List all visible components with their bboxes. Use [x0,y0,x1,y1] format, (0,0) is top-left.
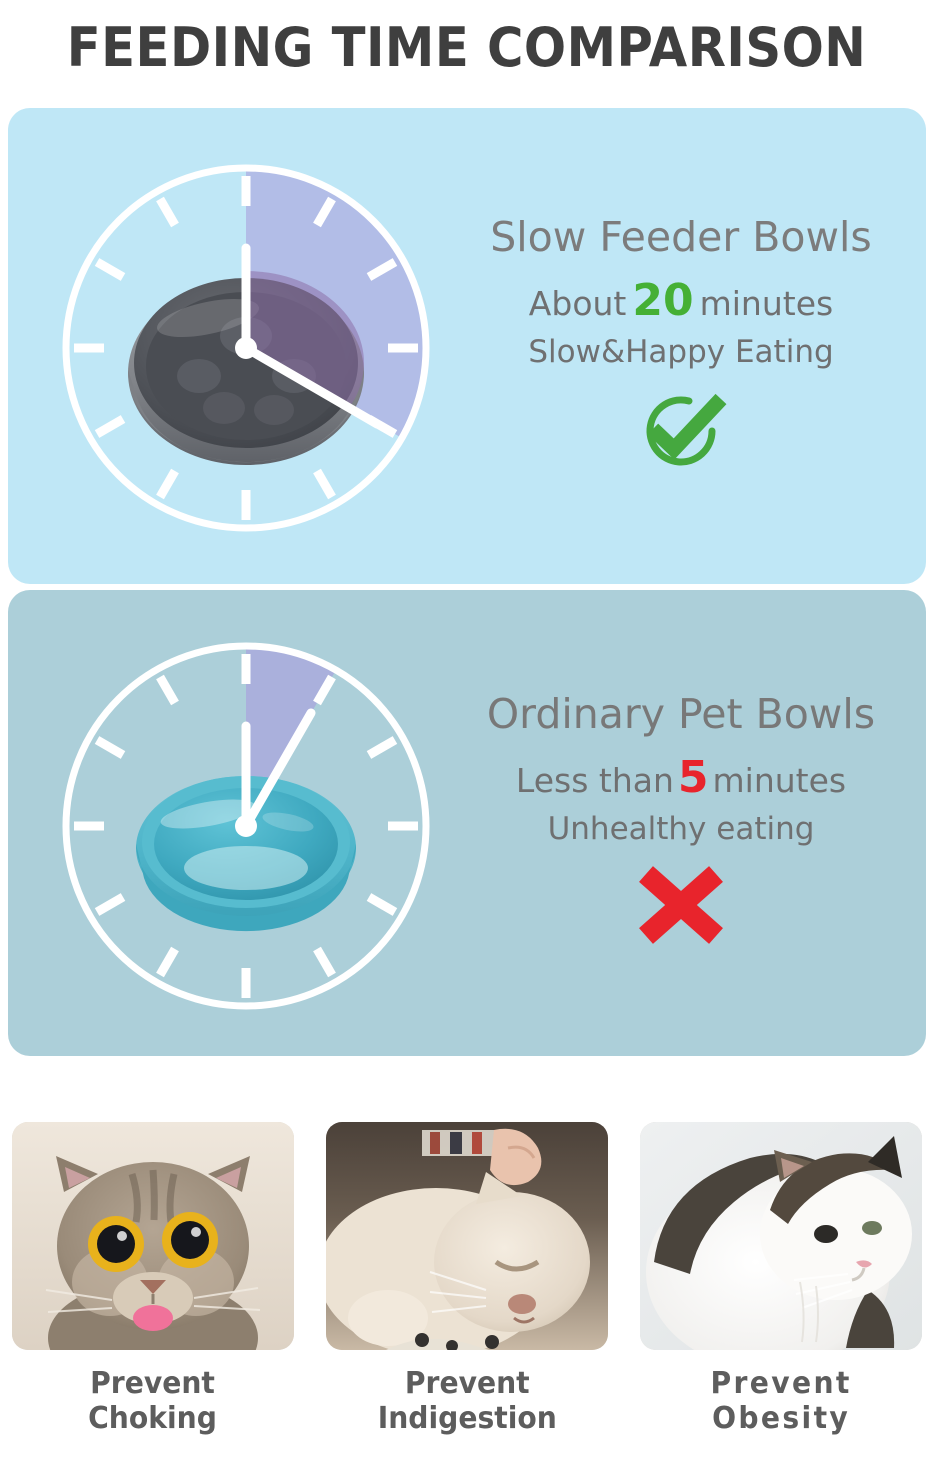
benefit-caption-choking-line1: Prevent [89,1366,218,1401]
photo-overweight-cat [640,1122,922,1350]
headline-ordinary-bowl: Ordinary Pet Bowls [487,692,875,736]
clock-face-slow [56,158,436,538]
benefits-row: Prevent Choking [0,1122,934,1461]
check-circle-icon [617,387,745,471]
panel-text-ordinary-bowl: Ordinary Pet Bowls Less than5minutes Unh… [436,692,926,954]
time-suffix-ordinary: minutes [713,761,847,800]
benefit-caption-obesity-line2: Obesity [710,1401,851,1436]
page-title-bar: FEEDING TIME COMPARISON [0,0,934,96]
panel-text-slow-feeder: Slow Feeder Bowls About20minutes Slow&Ha… [436,215,926,477]
verdict-slow-feeder [617,387,745,471]
benefit-caption-choking: Prevent Choking [89,1366,218,1437]
benefit-caption-indigestion: Prevent Indigestion [377,1366,556,1437]
clock-ordinary-bowl [56,636,436,1016]
benefit-caption-choking-line2: Choking [89,1401,218,1436]
clock-slow-feeder [56,158,436,538]
verdict-ordinary-bowl [626,864,736,948]
benefit-item-obesity: Prevent Obesity [636,1122,926,1461]
benefit-caption-indigestion-line2: Indigestion [377,1401,556,1436]
comparison-panel-ordinary-bowl: Ordinary Pet Bowls Less than5minutes Unh… [8,590,926,1056]
time-suffix-slow: minutes [700,284,834,323]
benefit-item-indigestion: Prevent Indigestion [322,1122,612,1461]
benefit-item-choking: Prevent Choking [8,1122,298,1461]
description-ordinary-bowl: Unhealthy eating [548,811,815,848]
headline-slow-feeder: Slow Feeder Bowls [490,215,872,259]
comparison-panel-slow-feeder: Slow Feeder Bowls About20minutes Slow&Ha… [8,108,926,584]
benefit-caption-indigestion-line1: Prevent [377,1366,556,1401]
time-value-ordinary: 5 [674,752,713,803]
photo-surprised-tabby-cat [12,1122,294,1350]
benefit-caption-obesity: Prevent Obesity [710,1366,851,1437]
benefit-caption-obesity-line1: Prevent [710,1366,851,1401]
description-slow-feeder: Slow&Happy Eating [528,334,833,371]
time-prefix-slow: About [529,284,627,323]
time-value-slow: 20 [626,275,699,326]
clock-face-ordinary [56,636,436,1016]
time-line-ordinary-bowl: Less than5minutes [516,750,846,805]
time-line-slow-feeder: About20minutes [529,273,833,328]
page-title: FEEDING TIME COMPARISON [67,21,867,75]
time-prefix-ordinary: Less than [516,761,674,800]
photo-sleeping-cream-cat [326,1122,608,1350]
cross-mark-icon [626,864,736,948]
